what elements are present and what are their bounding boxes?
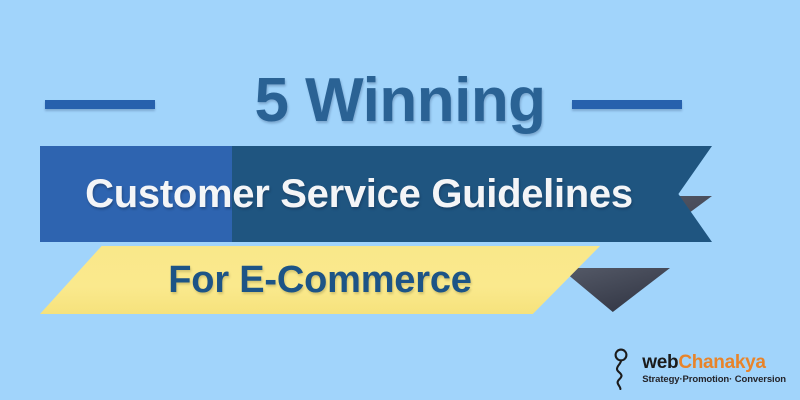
logo-word-web: web (642, 352, 678, 373)
logo-tagline: Strategy·Promotion· Conversion (642, 375, 786, 385)
blue-ribbon: Customer Service Guidelines (0, 146, 800, 246)
logo-text-block: webChanakya Strategy·Promotion· Conversi… (642, 353, 786, 385)
blue-ribbon-label: Customer Service Guidelines (40, 146, 712, 242)
yellow-ribbon: For E-Commerce (0, 246, 800, 326)
webchanakya-figure-icon (611, 348, 635, 390)
brand-logo: webChanakya Strategy·Promotion· Conversi… (611, 348, 786, 390)
banner-canvas: 5 Winning Customer Service Guidelines Fo… (0, 0, 800, 400)
yellow-ribbon-label: For E-Commerce (40, 246, 600, 314)
logo-wordmark: webChanakya (642, 353, 786, 372)
headline-row: 5 Winning (0, 62, 800, 140)
page-title: 5 Winning (0, 58, 800, 144)
logo-word-chanakya: Chanakya (678, 352, 765, 373)
